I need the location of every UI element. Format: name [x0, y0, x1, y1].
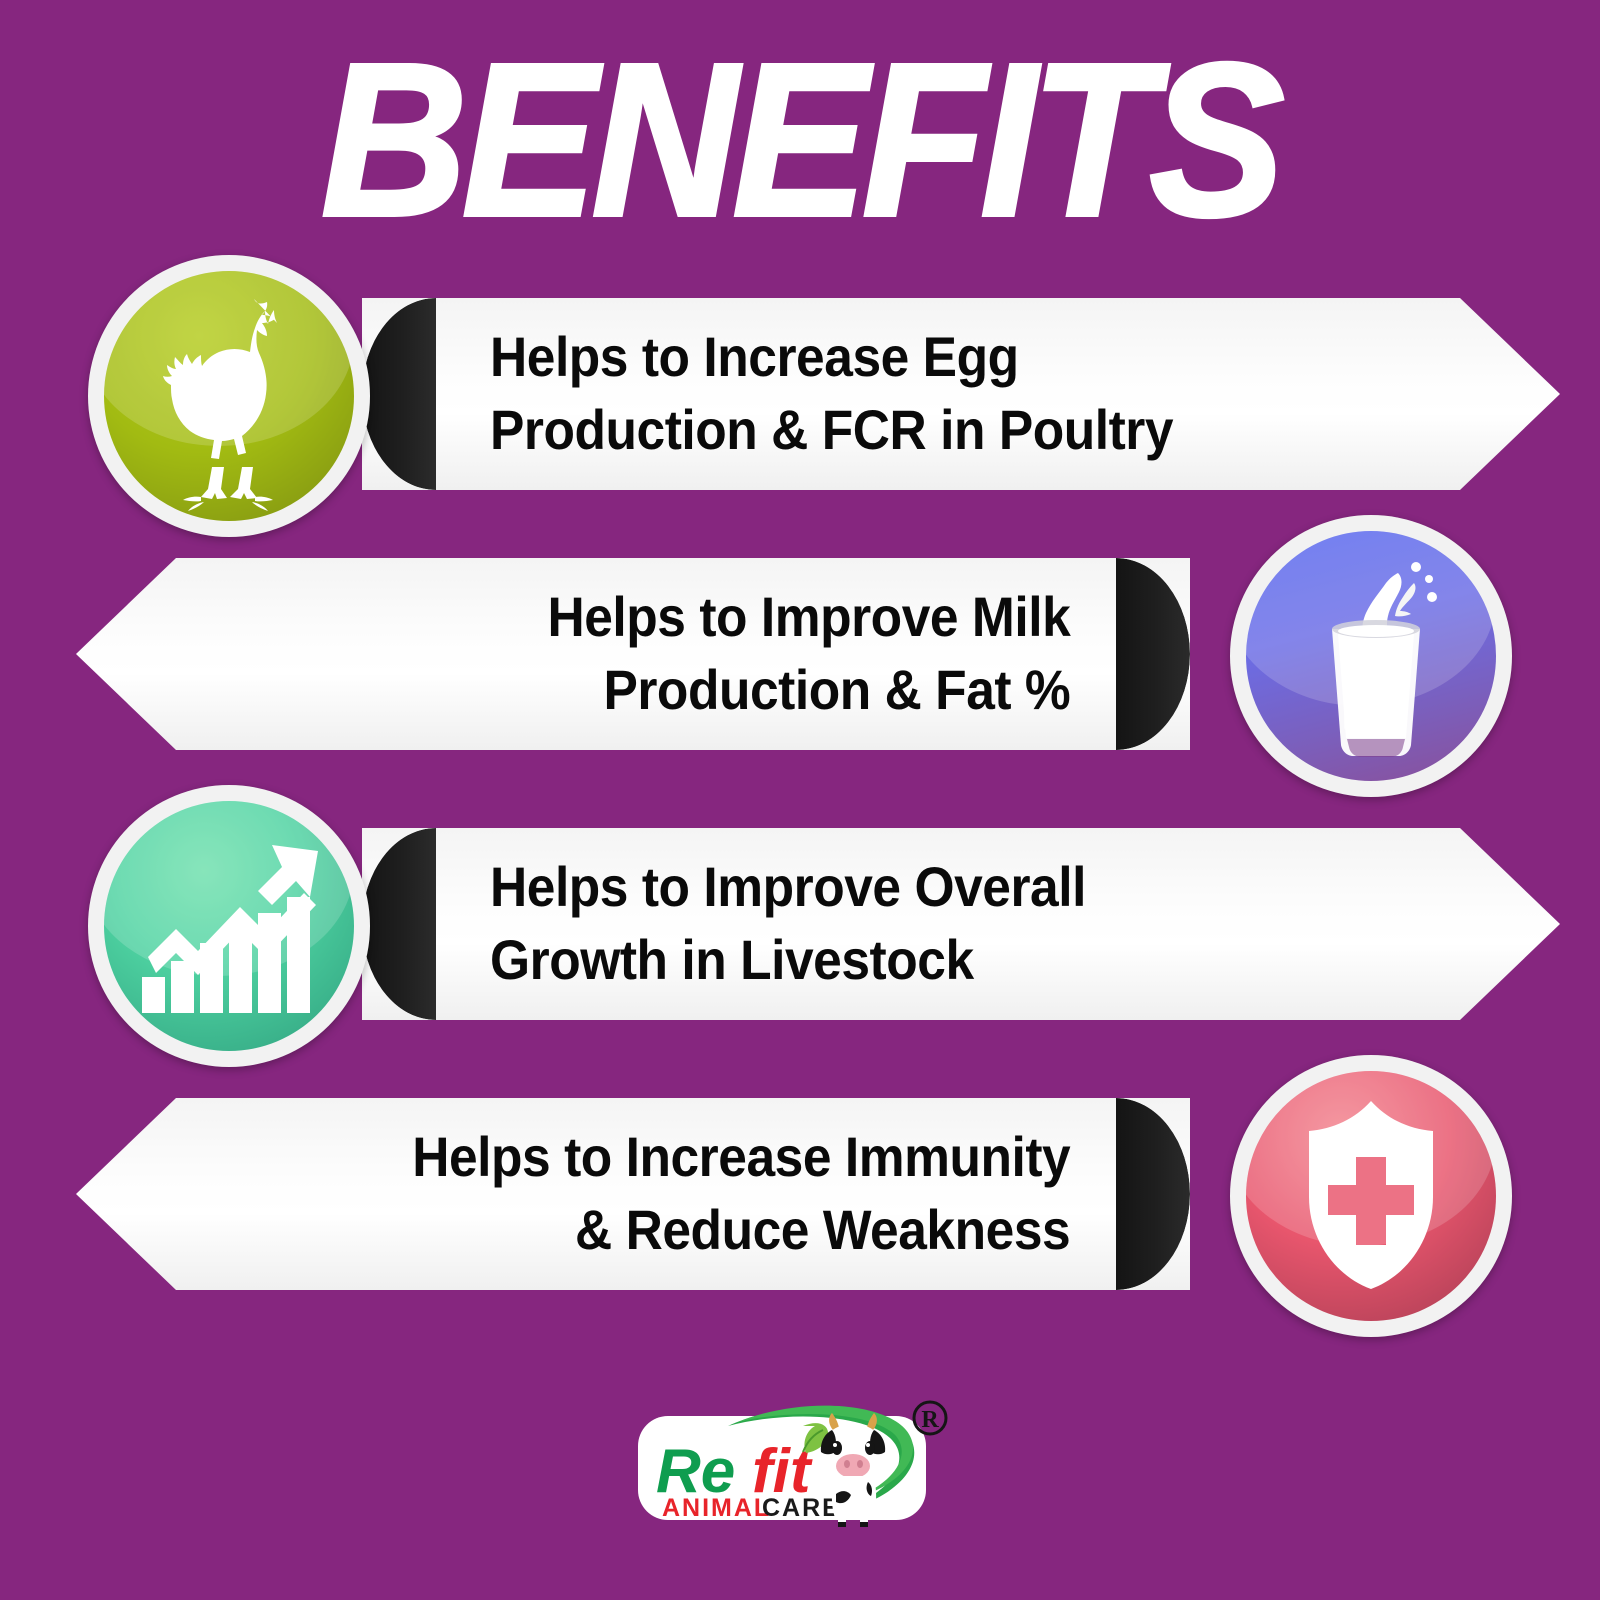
benefit-row-milk-production: Helps to Improve Milk Production & Fat %: [0, 510, 1600, 810]
brand-logo-graphic: Re fit ANIMAL CARE: [620, 1382, 980, 1552]
chicken-icon-badge: [88, 255, 370, 537]
benefit-line-2: Production & Fat %: [547, 654, 1070, 727]
brand-tagline-animal: ANIMAL: [662, 1494, 771, 1522]
brand-tagline-care: CARE: [762, 1494, 841, 1522]
milk-glass-icon: [1246, 531, 1496, 781]
benefit-row-overall-growth: Helps to Improve Overall Growth in Lives…: [0, 780, 1600, 1080]
benefit-line-1: Helps to Improve Milk: [547, 581, 1070, 654]
milk-glass-icon-badge: [1230, 515, 1512, 797]
benefit-text-overall-growth: Helps to Improve Overall Growth in Lives…: [490, 851, 1086, 997]
benefit-line-2: Production & FCR in Poultry: [490, 394, 1173, 467]
chicken-icon: [104, 271, 354, 521]
benefit-line-2: & Reduce Weakness: [412, 1194, 1070, 1267]
benefit-line-2: Growth in Livestock: [490, 924, 1086, 997]
growth-chart-icon: [104, 801, 354, 1051]
page-title: BENEFITS: [56, 32, 1544, 250]
benefit-line-1: Helps to Increase Egg: [490, 321, 1173, 394]
growth-chart-icon-glyph: [104, 801, 354, 1051]
benefit-text-egg-production: Helps to Increase Egg Production & FCR i…: [490, 321, 1173, 467]
milk-glass-icon-glyph: [1246, 531, 1496, 781]
benefit-text-milk-production: Helps to Improve Milk Production & Fat %: [547, 581, 1070, 727]
shield-cross-icon-glyph: [1246, 1071, 1496, 1321]
benefit-line-1: Helps to Improve Overall: [490, 851, 1086, 924]
chicken-icon-glyph: [104, 271, 354, 521]
shield-cross-icon: [1246, 1071, 1496, 1321]
brand-logo: Re fit ANIMAL CARE: [620, 1382, 980, 1552]
svg-text:R: R: [921, 1407, 939, 1433]
benefit-banner-egg-production: Helps to Increase Egg Production & FCR i…: [362, 298, 1560, 490]
shield-cross-icon-badge: [1230, 1055, 1512, 1337]
benefit-line-1: Helps to Increase Immunity: [412, 1121, 1070, 1194]
benefit-row-egg-production: Helps to Increase Egg Production & FCR i…: [0, 250, 1600, 550]
growth-chart-icon-badge: [88, 785, 370, 1067]
benefit-row-immunity: Helps to Increase Immunity & Reduce Weak…: [0, 1050, 1600, 1350]
benefit-text-immunity: Helps to Increase Immunity & Reduce Weak…: [412, 1121, 1070, 1267]
benefit-banner-overall-growth: Helps to Improve Overall Growth in Lives…: [362, 828, 1560, 1020]
infographic-canvas: BENEFITS Helps to Increase Egg Productio…: [0, 0, 1600, 1600]
benefit-banner-immunity: Helps to Increase Immunity & Reduce Weak…: [76, 1098, 1190, 1290]
benefit-banner-milk-production: Helps to Improve Milk Production & Fat %: [76, 558, 1190, 750]
